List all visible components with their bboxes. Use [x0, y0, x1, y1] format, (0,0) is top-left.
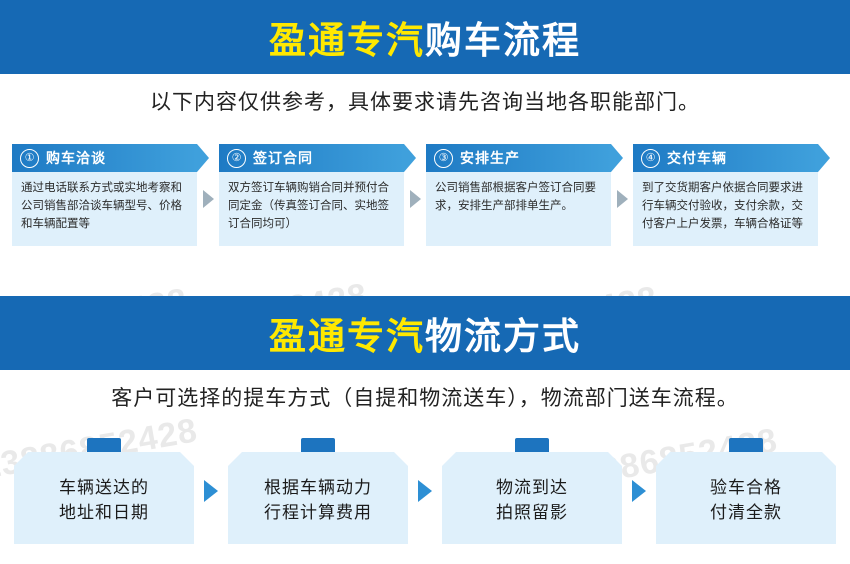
arrow-right-icon — [204, 480, 218, 502]
logistics-card: 根据车辆动力 行程计算费用 — [228, 438, 408, 544]
step-number: ④ — [641, 149, 660, 168]
card-tab — [729, 438, 763, 453]
card-line-1: 根据车辆动力 — [264, 476, 372, 501]
purchase-subtitle: 以下内容仅供参考，具体要求请先咨询当地各职能部门。 — [0, 86, 850, 116]
step-title: 签订合同 — [253, 148, 313, 168]
logistics-cards: 车辆送达的 地址和日期 根据车辆动力 行程计算费用 物流到达 拍照留影 — [14, 438, 836, 548]
step-body: 公司销售部根据客户签订合同要求，安排生产部排单生产。 — [426, 172, 611, 246]
logistics-card: 验车合格 付清全款 — [656, 438, 836, 544]
card-line-2: 付清全款 — [710, 501, 782, 526]
card-line-1: 验车合格 — [710, 476, 782, 501]
card-body: 根据车辆动力 行程计算费用 — [228, 452, 408, 544]
card-tab — [301, 438, 335, 453]
arrow-right-icon — [617, 190, 628, 208]
step-card: ① 购车洽谈 通过电话联系方式或实地考察和公司销售部洽谈车辆型号、价格和车辆配置… — [12, 144, 197, 246]
arrow-right-icon — [203, 190, 214, 208]
step-title: 安排生产 — [460, 148, 520, 168]
banner-title-1: 盈通专汽 购车流程 — [269, 10, 581, 64]
banner-rest-1: 购车流程 — [425, 10, 581, 64]
step-number: ② — [227, 149, 246, 168]
banner-title-2: 盈通专汽 物流方式 — [269, 306, 581, 360]
card-line-2: 拍照留影 — [496, 501, 568, 526]
logistics-banner: 盈通专汽 物流方式 — [0, 296, 850, 370]
step-card: ② 签订合同 双方签订车辆购销合同并预付合同定金（传真签订合同、实地签订合同均可… — [219, 144, 404, 246]
step-card: ③ 安排生产 公司销售部根据客户签订合同要求，安排生产部排单生产。 — [426, 144, 611, 246]
card-text: 验车合格 付清全款 — [710, 470, 782, 525]
arrow-right-icon — [418, 480, 432, 502]
card-separator-arrow — [194, 438, 228, 544]
step-body: 通过电话联系方式或实地考察和公司销售部洽谈车辆型号、价格和车辆配置等 — [12, 172, 197, 246]
card-tab — [87, 438, 121, 453]
banner-brand-1: 盈通专汽 — [269, 10, 425, 64]
arrow-right-icon — [410, 190, 421, 208]
step-card: ④ 交付车辆 到了交货期客户依据合同要求进行车辆交付验收，支付余款，交付客户上户… — [633, 144, 818, 246]
card-text: 根据车辆动力 行程计算费用 — [264, 470, 372, 525]
purchase-steps: ① 购车洽谈 通过电话联系方式或实地考察和公司销售部洽谈车辆型号、价格和车辆配置… — [12, 144, 838, 254]
purchase-process-banner: 盈通专汽 购车流程 — [0, 0, 850, 74]
card-separator-arrow — [622, 438, 656, 544]
step-title: 交付车辆 — [667, 148, 727, 168]
card-body: 物流到达 拍照留影 — [442, 452, 622, 544]
step-title: 购车洽谈 — [46, 148, 106, 168]
card-text: 车辆送达的 地址和日期 — [59, 470, 149, 525]
logistics-subtitle: 客户可选择的提车方式（自提和物流送车），物流部门送车流程。 — [0, 382, 850, 412]
step-header: ② 签订合同 — [219, 144, 404, 172]
step-number: ③ — [434, 149, 453, 168]
card-body: 车辆送达的 地址和日期 — [14, 452, 194, 544]
card-text: 物流到达 拍照留影 — [496, 470, 568, 525]
page-root: 13886852428 13886852428 13886852428 1388… — [0, 0, 850, 564]
card-separator-arrow — [408, 438, 442, 544]
card-line-1: 物流到达 — [496, 476, 568, 501]
card-body: 验车合格 付清全款 — [656, 452, 836, 544]
step-header: ④ 交付车辆 — [633, 144, 818, 172]
banner-brand-2: 盈通专汽 — [269, 306, 425, 360]
card-line-1: 车辆送达的 — [59, 476, 149, 501]
step-body: 到了交货期客户依据合同要求进行车辆交付验收，支付余款，交付客户上户发票，车辆合格… — [633, 172, 818, 246]
card-line-2: 地址和日期 — [59, 501, 149, 526]
banner-rest-2: 物流方式 — [425, 306, 581, 360]
step-header: ① 购车洽谈 — [12, 144, 197, 172]
step-number: ① — [20, 149, 39, 168]
step-body: 双方签订车辆购销合同并预付合同定金（传真签订合同、实地签订合同均可） — [219, 172, 404, 246]
step-header: ③ 安排生产 — [426, 144, 611, 172]
card-line-2: 行程计算费用 — [264, 501, 372, 526]
arrow-right-icon — [632, 480, 646, 502]
logistics-card: 物流到达 拍照留影 — [442, 438, 622, 544]
logistics-card: 车辆送达的 地址和日期 — [14, 438, 194, 544]
card-tab — [515, 438, 549, 453]
